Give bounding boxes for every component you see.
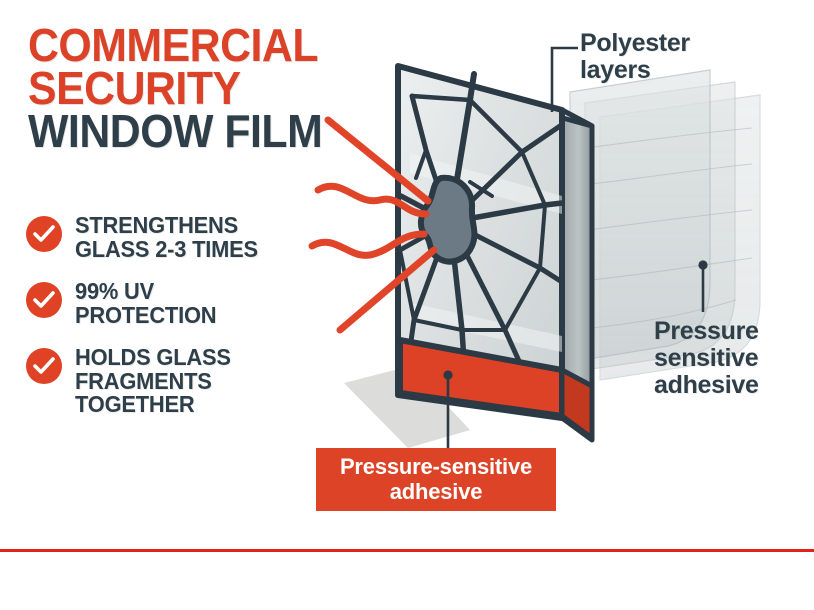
feature-list: STRENGTHENS GLASS 2-3 TIMES 99% UV PROTE…: [26, 214, 326, 435]
label-polyester-layers: Polyester layers: [580, 30, 690, 84]
infographic-poster: COMMERCIAL SECURITY WINDOW FILM STRENGTH…: [0, 0, 814, 610]
callout-pressure-sensitive-adhesive: Pressure-sensitive adhesive: [316, 448, 556, 511]
headline-line-1: COMMERCIAL: [28, 24, 363, 67]
headline-line-2: SECURITY: [28, 67, 363, 110]
list-item: HOLDS GLASS FRAGMENTS TOGETHER: [26, 346, 326, 418]
list-item: 99% UV PROTECTION: [26, 280, 326, 328]
headline-line-3: WINDOW FILM: [28, 110, 363, 153]
check-icon: [26, 216, 62, 252]
check-icon: [26, 282, 62, 318]
page-title: COMMERCIAL SECURITY WINDOW FILM: [28, 24, 388, 152]
list-item: STRENGTHENS GLASS 2-3 TIMES: [26, 214, 326, 262]
list-item-label: HOLDS GLASS FRAGMENTS TOGETHER: [75, 346, 231, 418]
bottom-divider: [0, 549, 814, 552]
check-icon: [26, 348, 62, 384]
list-item-label: 99% UV PROTECTION: [75, 280, 216, 328]
callout-label: Pressure-sensitive adhesive: [340, 455, 532, 504]
label-pressure-sensitive-adhesive: Pressure sensitive adhesive: [654, 318, 759, 399]
list-item-label: STRENGTHENS GLASS 2-3 TIMES: [75, 214, 258, 262]
